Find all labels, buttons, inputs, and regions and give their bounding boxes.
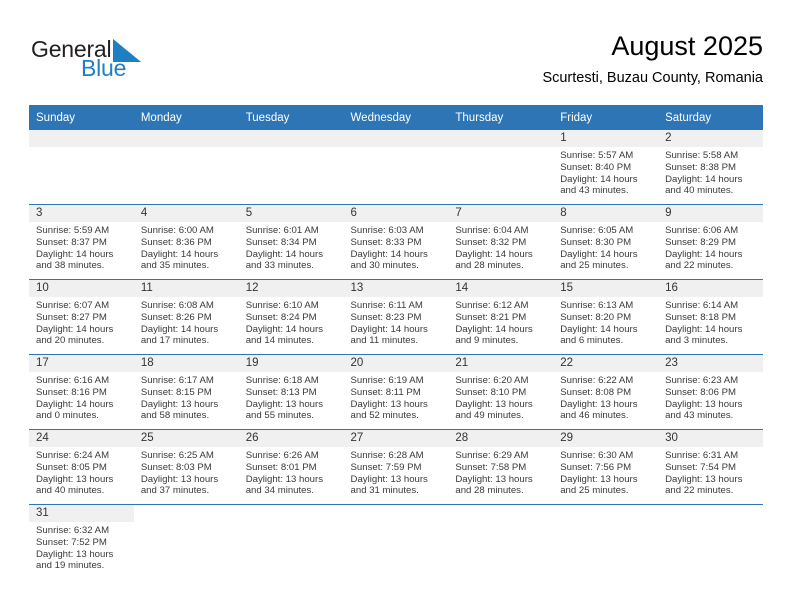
day-number: 15: [553, 280, 658, 297]
sunset-time: Sunset: 8:27 PM: [36, 312, 130, 324]
day-details: Sunrise: 6:20 AMSunset: 8:10 PMDaylight:…: [448, 372, 553, 422]
day-cell-content: 23Sunrise: 6:23 AMSunset: 8:06 PMDayligh…: [658, 355, 763, 429]
day-number: 1: [553, 130, 658, 147]
sunset-time: Sunset: 8:16 PM: [36, 387, 130, 399]
calendar-day-cell[interactable]: 2Sunrise: 5:58 AMSunset: 8:38 PMDaylight…: [658, 130, 763, 205]
daylight-duration-line1: Daylight: 13 hours: [455, 399, 549, 411]
daylight-duration-line1: Daylight: 14 hours: [665, 324, 759, 336]
calendar-day-cell[interactable]: 25Sunrise: 6:25 AMSunset: 8:03 PMDayligh…: [134, 430, 239, 505]
day-details: Sunrise: 6:30 AMSunset: 7:56 PMDaylight:…: [553, 447, 658, 497]
day-cell-content: [344, 505, 449, 579]
day-cell-content: 5Sunrise: 6:01 AMSunset: 8:34 PMDaylight…: [239, 205, 344, 279]
day-cell-content: 18Sunrise: 6:17 AMSunset: 8:15 PMDayligh…: [134, 355, 239, 429]
daylight-duration-line2: and 38 minutes.: [36, 260, 130, 272]
sunset-time: Sunset: 8:05 PM: [36, 462, 130, 474]
day-number: [239, 130, 344, 147]
daylight-duration-line1: Daylight: 14 hours: [36, 249, 130, 261]
sunrise-time: Sunrise: 6:12 AM: [455, 300, 549, 312]
sunrise-time: Sunrise: 6:31 AM: [665, 450, 759, 462]
calendar-day-cell[interactable]: 23Sunrise: 6:23 AMSunset: 8:06 PMDayligh…: [658, 355, 763, 430]
day-cell-content: 4Sunrise: 6:00 AMSunset: 8:36 PMDaylight…: [134, 205, 239, 279]
page-header: General Blue August 2025 Scurtesti, Buza…: [29, 30, 763, 96]
day-number: 11: [134, 280, 239, 297]
day-details: Sunrise: 6:25 AMSunset: 8:03 PMDaylight:…: [134, 447, 239, 497]
day-cell-content: [344, 130, 449, 204]
sunrise-time: Sunrise: 6:10 AM: [246, 300, 340, 312]
day-number: 28: [448, 430, 553, 447]
daylight-duration-line2: and 31 minutes.: [351, 485, 445, 497]
daylight-duration-line1: Daylight: 13 hours: [141, 399, 235, 411]
sunrise-time: Sunrise: 5:58 AM: [665, 150, 759, 162]
calendar-day-cell[interactable]: 28Sunrise: 6:29 AMSunset: 7:58 PMDayligh…: [448, 430, 553, 505]
daylight-duration-line2: and 33 minutes.: [246, 260, 340, 272]
day-details: Sunrise: 6:05 AMSunset: 8:30 PMDaylight:…: [553, 222, 658, 272]
day-cell-content: [658, 505, 763, 579]
daylight-duration-line2: and 14 minutes.: [246, 335, 340, 347]
day-number: 29: [553, 430, 658, 447]
calendar-empty-cell: [344, 130, 449, 205]
day-cell-content: 13Sunrise: 6:11 AMSunset: 8:23 PMDayligh…: [344, 280, 449, 354]
day-number: 14: [448, 280, 553, 297]
calendar-day-cell[interactable]: 20Sunrise: 6:19 AMSunset: 8:11 PMDayligh…: [344, 355, 449, 430]
day-cell-content: 16Sunrise: 6:14 AMSunset: 8:18 PMDayligh…: [658, 280, 763, 354]
day-details: Sunrise: 6:06 AMSunset: 8:29 PMDaylight:…: [658, 222, 763, 272]
day-cell-content: 24Sunrise: 6:24 AMSunset: 8:05 PMDayligh…: [29, 430, 134, 504]
daylight-duration-line2: and 22 minutes.: [665, 260, 759, 272]
sunset-time: Sunset: 8:40 PM: [560, 162, 654, 174]
sunset-time: Sunset: 8:08 PM: [560, 387, 654, 399]
daylight-duration-line1: Daylight: 13 hours: [36, 549, 130, 561]
calendar-empty-cell: [448, 505, 553, 580]
day-number: [553, 505, 658, 522]
page-title: August 2025: [542, 30, 763, 63]
general-blue-logo[interactable]: General Blue: [29, 36, 189, 92]
daylight-duration-line1: Daylight: 14 hours: [141, 324, 235, 336]
day-cell-content: [134, 505, 239, 579]
weekday-header-wednesday: Wednesday: [344, 105, 449, 130]
sunrise-time: Sunrise: 6:16 AM: [36, 375, 130, 387]
day-number: 30: [658, 430, 763, 447]
day-cell-content: 6Sunrise: 6:03 AMSunset: 8:33 PMDaylight…: [344, 205, 449, 279]
calendar-day-cell[interactable]: 29Sunrise: 6:30 AMSunset: 7:56 PMDayligh…: [553, 430, 658, 505]
day-number: 24: [29, 430, 134, 447]
day-details: Sunrise: 6:08 AMSunset: 8:26 PMDaylight:…: [134, 297, 239, 347]
daylight-duration-line2: and 28 minutes.: [455, 260, 549, 272]
calendar-day-cell[interactable]: 15Sunrise: 6:13 AMSunset: 8:20 PMDayligh…: [553, 280, 658, 355]
sunrise-time: Sunrise: 5:57 AM: [560, 150, 654, 162]
day-details: Sunrise: 6:13 AMSunset: 8:20 PMDaylight:…: [553, 297, 658, 347]
sunset-time: Sunset: 8:01 PM: [246, 462, 340, 474]
sunrise-time: Sunrise: 6:25 AM: [141, 450, 235, 462]
day-details: Sunrise: 6:28 AMSunset: 7:59 PMDaylight:…: [344, 447, 449, 497]
daylight-duration-line1: Daylight: 13 hours: [560, 474, 654, 486]
daylight-duration-line1: Daylight: 14 hours: [665, 174, 759, 186]
daylight-duration-line2: and 58 minutes.: [141, 410, 235, 422]
day-cell-content: 14Sunrise: 6:12 AMSunset: 8:21 PMDayligh…: [448, 280, 553, 354]
daylight-duration-line1: Daylight: 13 hours: [351, 474, 445, 486]
daylight-duration-line1: Daylight: 14 hours: [351, 324, 445, 336]
day-cell-content: 31Sunrise: 6:32 AMSunset: 7:52 PMDayligh…: [29, 505, 134, 579]
daylight-duration-line2: and 43 minutes.: [560, 185, 654, 197]
daylight-duration-line1: Daylight: 14 hours: [560, 324, 654, 336]
sunset-time: Sunset: 8:36 PM: [141, 237, 235, 249]
calendar-empty-cell: [344, 505, 449, 580]
day-details: Sunrise: 6:23 AMSunset: 8:06 PMDaylight:…: [658, 372, 763, 422]
calendar-day-cell[interactable]: 26Sunrise: 6:26 AMSunset: 8:01 PMDayligh…: [239, 430, 344, 505]
calendar-week-row: 24Sunrise: 6:24 AMSunset: 8:05 PMDayligh…: [29, 430, 763, 505]
sunset-time: Sunset: 8:21 PM: [455, 312, 549, 324]
sunrise-time: Sunrise: 6:06 AM: [665, 225, 759, 237]
calendar-day-cell[interactable]: 30Sunrise: 6:31 AMSunset: 7:54 PMDayligh…: [658, 430, 763, 505]
day-number: 17: [29, 355, 134, 372]
day-number: 21: [448, 355, 553, 372]
calendar-empty-cell: [29, 130, 134, 205]
sunset-time: Sunset: 8:38 PM: [665, 162, 759, 174]
day-number: 3: [29, 205, 134, 222]
day-cell-content: 26Sunrise: 6:26 AMSunset: 8:01 PMDayligh…: [239, 430, 344, 504]
sunset-time: Sunset: 8:37 PM: [36, 237, 130, 249]
day-cell-content: 22Sunrise: 6:22 AMSunset: 8:08 PMDayligh…: [553, 355, 658, 429]
sunset-time: Sunset: 8:23 PM: [351, 312, 445, 324]
sunrise-time: Sunrise: 6:29 AM: [455, 450, 549, 462]
day-number: [448, 505, 553, 522]
day-number: 5: [239, 205, 344, 222]
day-number: 27: [344, 430, 449, 447]
day-number: 7: [448, 205, 553, 222]
sunset-time: Sunset: 8:18 PM: [665, 312, 759, 324]
day-number: [134, 505, 239, 522]
day-details: Sunrise: 6:17 AMSunset: 8:15 PMDaylight:…: [134, 372, 239, 422]
day-number: [344, 130, 449, 147]
day-cell-content: 11Sunrise: 6:08 AMSunset: 8:26 PMDayligh…: [134, 280, 239, 354]
sunset-time: Sunset: 8:32 PM: [455, 237, 549, 249]
sunrise-time: Sunrise: 6:23 AM: [665, 375, 759, 387]
sunrise-time: Sunrise: 6:11 AM: [351, 300, 445, 312]
triangle-flag-icon: [113, 39, 141, 62]
day-details: Sunrise: 6:12 AMSunset: 8:21 PMDaylight:…: [448, 297, 553, 347]
sunrise-time: Sunrise: 6:17 AM: [141, 375, 235, 387]
daylight-duration-line1: Daylight: 13 hours: [141, 474, 235, 486]
calendar-day-cell[interactable]: 4Sunrise: 6:00 AMSunset: 8:36 PMDaylight…: [134, 205, 239, 280]
day-number: [29, 130, 134, 147]
daylight-duration-line2: and 25 minutes.: [560, 260, 654, 272]
daylight-duration-line1: Daylight: 14 hours: [36, 399, 130, 411]
sunset-time: Sunset: 7:56 PM: [560, 462, 654, 474]
day-details: Sunrise: 6:11 AMSunset: 8:23 PMDaylight:…: [344, 297, 449, 347]
sunset-time: Sunset: 8:06 PM: [665, 387, 759, 399]
sunrise-time: Sunrise: 6:24 AM: [36, 450, 130, 462]
daylight-duration-line1: Daylight: 13 hours: [560, 399, 654, 411]
calendar-day-cell[interactable]: 6Sunrise: 6:03 AMSunset: 8:33 PMDaylight…: [344, 205, 449, 280]
sunset-time: Sunset: 8:30 PM: [560, 237, 654, 249]
day-cell-content: 27Sunrise: 6:28 AMSunset: 7:59 PMDayligh…: [344, 430, 449, 504]
sunrise-time: Sunrise: 6:01 AM: [246, 225, 340, 237]
sunset-time: Sunset: 8:33 PM: [351, 237, 445, 249]
calendar-day-cell[interactable]: 31Sunrise: 6:32 AMSunset: 7:52 PMDayligh…: [29, 505, 134, 580]
day-details: Sunrise: 6:19 AMSunset: 8:11 PMDaylight:…: [344, 372, 449, 422]
daylight-duration-line2: and 25 minutes.: [560, 485, 654, 497]
daylight-duration-line2: and 9 minutes.: [455, 335, 549, 347]
calendar-day-cell[interactable]: 24Sunrise: 6:24 AMSunset: 8:05 PMDayligh…: [29, 430, 134, 505]
day-number: 20: [344, 355, 449, 372]
day-number: 13: [344, 280, 449, 297]
calendar-empty-cell: [239, 505, 344, 580]
calendar-page: General Blue August 2025 Scurtesti, Buza…: [0, 0, 792, 612]
day-cell-content: 28Sunrise: 6:29 AMSunset: 7:58 PMDayligh…: [448, 430, 553, 504]
daylight-duration-line1: Daylight: 14 hours: [455, 249, 549, 261]
calendar-day-cell[interactable]: 12Sunrise: 6:10 AMSunset: 8:24 PMDayligh…: [239, 280, 344, 355]
sunrise-time: Sunrise: 6:04 AM: [455, 225, 549, 237]
sunset-time: Sunset: 7:58 PM: [455, 462, 549, 474]
day-number: [658, 505, 763, 522]
day-number: 10: [29, 280, 134, 297]
day-number: [239, 505, 344, 522]
daylight-duration-line2: and 28 minutes.: [455, 485, 549, 497]
daylight-duration-line2: and 22 minutes.: [665, 485, 759, 497]
day-details: Sunrise: 6:29 AMSunset: 7:58 PMDaylight:…: [448, 447, 553, 497]
daylight-duration-line2: and 19 minutes.: [36, 560, 130, 572]
weekday-header-row: Sunday Monday Tuesday Wednesday Thursday…: [29, 105, 763, 130]
calendar-week-row: 3Sunrise: 5:59 AMSunset: 8:37 PMDaylight…: [29, 205, 763, 280]
daylight-duration-line1: Daylight: 14 hours: [455, 324, 549, 336]
calendar-empty-cell: [658, 505, 763, 580]
day-number: 8: [553, 205, 658, 222]
day-number: 26: [239, 430, 344, 447]
weekday-header-saturday: Saturday: [658, 105, 763, 130]
sunset-time: Sunset: 7:59 PM: [351, 462, 445, 474]
sunrise-time: Sunrise: 6:13 AM: [560, 300, 654, 312]
day-cell-content: 15Sunrise: 6:13 AMSunset: 8:20 PMDayligh…: [553, 280, 658, 354]
day-details: Sunrise: 5:57 AMSunset: 8:40 PMDaylight:…: [553, 147, 658, 197]
day-cell-content: 2Sunrise: 5:58 AMSunset: 8:38 PMDaylight…: [658, 130, 763, 204]
calendar-week-row: 10Sunrise: 6:07 AMSunset: 8:27 PMDayligh…: [29, 280, 763, 355]
day-number: 9: [658, 205, 763, 222]
day-details: Sunrise: 6:32 AMSunset: 7:52 PMDaylight:…: [29, 522, 134, 572]
day-details: Sunrise: 6:10 AMSunset: 8:24 PMDaylight:…: [239, 297, 344, 347]
day-details: Sunrise: 6:18 AMSunset: 8:13 PMDaylight:…: [239, 372, 344, 422]
sunrise-time: Sunrise: 6:22 AM: [560, 375, 654, 387]
day-cell-content: 29Sunrise: 6:30 AMSunset: 7:56 PMDayligh…: [553, 430, 658, 504]
daylight-duration-line2: and 52 minutes.: [351, 410, 445, 422]
sunset-time: Sunset: 8:11 PM: [351, 387, 445, 399]
calendar-empty-cell: [553, 505, 658, 580]
sunrise-time: Sunrise: 6:28 AM: [351, 450, 445, 462]
calendar-day-cell[interactable]: 16Sunrise: 6:14 AMSunset: 8:18 PMDayligh…: [658, 280, 763, 355]
daylight-duration-line2: and 49 minutes.: [455, 410, 549, 422]
daylight-duration-line1: Daylight: 14 hours: [351, 249, 445, 261]
sunset-time: Sunset: 8:13 PM: [246, 387, 340, 399]
calendar-day-cell[interactable]: 14Sunrise: 6:12 AMSunset: 8:21 PMDayligh…: [448, 280, 553, 355]
location-subtitle: Scurtesti, Buzau County, Romania: [542, 69, 763, 87]
day-number: 12: [239, 280, 344, 297]
daylight-duration-line1: Daylight: 14 hours: [36, 324, 130, 336]
day-details: Sunrise: 6:26 AMSunset: 8:01 PMDaylight:…: [239, 447, 344, 497]
daylight-duration-line2: and 40 minutes.: [665, 185, 759, 197]
sunrise-time: Sunrise: 6:20 AM: [455, 375, 549, 387]
day-cell-content: 21Sunrise: 6:20 AMSunset: 8:10 PMDayligh…: [448, 355, 553, 429]
day-number: [344, 505, 449, 522]
day-cell-content: [134, 130, 239, 204]
day-cell-content: 30Sunrise: 6:31 AMSunset: 7:54 PMDayligh…: [658, 430, 763, 504]
daylight-duration-line2: and 43 minutes.: [665, 410, 759, 422]
day-details: Sunrise: 6:31 AMSunset: 7:54 PMDaylight:…: [658, 447, 763, 497]
sunrise-time: Sunrise: 6:30 AM: [560, 450, 654, 462]
day-number: 22: [553, 355, 658, 372]
day-details: Sunrise: 6:07 AMSunset: 8:27 PMDaylight:…: [29, 297, 134, 347]
day-number: 23: [658, 355, 763, 372]
daylight-duration-line2: and 40 minutes.: [36, 485, 130, 497]
daylight-duration-line1: Daylight: 14 hours: [560, 249, 654, 261]
day-details: Sunrise: 5:59 AMSunset: 8:37 PMDaylight:…: [29, 222, 134, 272]
daylight-duration-line2: and 6 minutes.: [560, 335, 654, 347]
daylight-duration-line2: and 37 minutes.: [141, 485, 235, 497]
day-details: Sunrise: 6:00 AMSunset: 8:36 PMDaylight:…: [134, 222, 239, 272]
daylight-duration-line1: Daylight: 13 hours: [246, 399, 340, 411]
day-details: Sunrise: 6:04 AMSunset: 8:32 PMDaylight:…: [448, 222, 553, 272]
day-number: 25: [134, 430, 239, 447]
day-cell-content: 20Sunrise: 6:19 AMSunset: 8:11 PMDayligh…: [344, 355, 449, 429]
day-cell-content: [553, 505, 658, 579]
day-cell-content: [239, 505, 344, 579]
daylight-duration-line2: and 34 minutes.: [246, 485, 340, 497]
daylight-duration-line1: Daylight: 14 hours: [560, 174, 654, 186]
daylight-duration-line2: and 20 minutes.: [36, 335, 130, 347]
calendar-week-row: 31Sunrise: 6:32 AMSunset: 7:52 PMDayligh…: [29, 505, 763, 580]
daylight-duration-line2: and 11 minutes.: [351, 335, 445, 347]
calendar-day-cell[interactable]: 9Sunrise: 6:06 AMSunset: 8:29 PMDaylight…: [658, 205, 763, 280]
sunrise-time: Sunrise: 6:05 AM: [560, 225, 654, 237]
day-number: 31: [29, 505, 134, 522]
day-number: 19: [239, 355, 344, 372]
sunrise-time: Sunrise: 6:18 AM: [246, 375, 340, 387]
sunrise-sunset-calendar-table: Sunday Monday Tuesday Wednesday Thursday…: [29, 105, 763, 579]
daylight-duration-line2: and 46 minutes.: [560, 410, 654, 422]
calendar-day-cell[interactable]: 22Sunrise: 6:22 AMSunset: 8:08 PMDayligh…: [553, 355, 658, 430]
sunrise-time: Sunrise: 6:32 AM: [36, 525, 130, 537]
weekday-header-thursday: Thursday: [448, 105, 553, 130]
day-number: [134, 130, 239, 147]
calendar-day-cell[interactable]: 11Sunrise: 6:08 AMSunset: 8:26 PMDayligh…: [134, 280, 239, 355]
calendar-day-cell[interactable]: 8Sunrise: 6:05 AMSunset: 8:30 PMDaylight…: [553, 205, 658, 280]
daylight-duration-line1: Daylight: 13 hours: [36, 474, 130, 486]
daylight-duration-line1: Daylight: 14 hours: [246, 249, 340, 261]
calendar-empty-cell: [134, 505, 239, 580]
day-cell-content: 7Sunrise: 6:04 AMSunset: 8:32 PMDaylight…: [448, 205, 553, 279]
sunrise-time: Sunrise: 6:14 AM: [665, 300, 759, 312]
day-cell-content: [448, 130, 553, 204]
calendar-day-cell[interactable]: 7Sunrise: 6:04 AMSunset: 8:32 PMDaylight…: [448, 205, 553, 280]
day-cell-content: 8Sunrise: 6:05 AMSunset: 8:30 PMDaylight…: [553, 205, 658, 279]
sunrise-time: Sunrise: 6:07 AM: [36, 300, 130, 312]
daylight-duration-line2: and 30 minutes.: [351, 260, 445, 272]
day-cell-content: 25Sunrise: 6:25 AMSunset: 8:03 PMDayligh…: [134, 430, 239, 504]
daylight-duration-line2: and 35 minutes.: [141, 260, 235, 272]
daylight-duration-line2: and 0 minutes.: [36, 410, 130, 422]
day-cell-content: [239, 130, 344, 204]
day-cell-content: 12Sunrise: 6:10 AMSunset: 8:24 PMDayligh…: [239, 280, 344, 354]
sunrise-time: Sunrise: 6:00 AM: [141, 225, 235, 237]
sunset-time: Sunset: 7:54 PM: [665, 462, 759, 474]
day-cell-content: 9Sunrise: 6:06 AMSunset: 8:29 PMDaylight…: [658, 205, 763, 279]
calendar-day-cell[interactable]: 27Sunrise: 6:28 AMSunset: 7:59 PMDayligh…: [344, 430, 449, 505]
calendar-day-cell[interactable]: 13Sunrise: 6:11 AMSunset: 8:23 PMDayligh…: [344, 280, 449, 355]
day-number: 18: [134, 355, 239, 372]
daylight-duration-line1: Daylight: 13 hours: [665, 399, 759, 411]
calendar-week-row: 17Sunrise: 6:16 AMSunset: 8:16 PMDayligh…: [29, 355, 763, 430]
sunset-time: Sunset: 8:10 PM: [455, 387, 549, 399]
day-details: Sunrise: 6:01 AMSunset: 8:34 PMDaylight:…: [239, 222, 344, 272]
day-details: Sunrise: 6:14 AMSunset: 8:18 PMDaylight:…: [658, 297, 763, 347]
calendar-empty-cell: [448, 130, 553, 205]
calendar-day-cell[interactable]: 21Sunrise: 6:20 AMSunset: 8:10 PMDayligh…: [448, 355, 553, 430]
calendar-empty-cell: [134, 130, 239, 205]
weekday-header-monday: Monday: [134, 105, 239, 130]
day-cell-content: 17Sunrise: 6:16 AMSunset: 8:16 PMDayligh…: [29, 355, 134, 429]
calendar-week-row: 1Sunrise: 5:57 AMSunset: 8:40 PMDaylight…: [29, 130, 763, 205]
sunset-time: Sunset: 8:34 PM: [246, 237, 340, 249]
day-number: 2: [658, 130, 763, 147]
day-details: Sunrise: 6:22 AMSunset: 8:08 PMDaylight:…: [553, 372, 658, 422]
day-cell-content: 19Sunrise: 6:18 AMSunset: 8:13 PMDayligh…: [239, 355, 344, 429]
day-details: Sunrise: 6:24 AMSunset: 8:05 PMDaylight:…: [29, 447, 134, 497]
calendar-day-cell[interactable]: 19Sunrise: 6:18 AMSunset: 8:13 PMDayligh…: [239, 355, 344, 430]
sunset-time: Sunset: 8:15 PM: [141, 387, 235, 399]
daylight-duration-line1: Daylight: 14 hours: [665, 249, 759, 261]
weekday-header-tuesday: Tuesday: [239, 105, 344, 130]
calendar-day-cell[interactable]: 17Sunrise: 6:16 AMSunset: 8:16 PMDayligh…: [29, 355, 134, 430]
sunset-time: Sunset: 8:03 PM: [141, 462, 235, 474]
calendar-body: 1Sunrise: 5:57 AMSunset: 8:40 PMDaylight…: [29, 130, 763, 579]
sunset-time: Sunset: 8:20 PM: [560, 312, 654, 324]
sunrise-time: Sunrise: 6:03 AM: [351, 225, 445, 237]
weekday-header-friday: Friday: [553, 105, 658, 130]
day-cell-content: 1Sunrise: 5:57 AMSunset: 8:40 PMDaylight…: [553, 130, 658, 204]
daylight-duration-line1: Daylight: 14 hours: [246, 324, 340, 336]
daylight-duration-line1: Daylight: 13 hours: [455, 474, 549, 486]
day-number: 6: [344, 205, 449, 222]
day-number: 16: [658, 280, 763, 297]
sunrise-time: Sunrise: 6:08 AM: [141, 300, 235, 312]
daylight-duration-line1: Daylight: 14 hours: [141, 249, 235, 261]
calendar-empty-cell: [239, 130, 344, 205]
day-number: [448, 130, 553, 147]
day-cell-content: [448, 505, 553, 579]
day-details: Sunrise: 5:58 AMSunset: 8:38 PMDaylight:…: [658, 147, 763, 197]
sunrise-time: Sunrise: 6:26 AM: [246, 450, 340, 462]
daylight-duration-line2: and 3 minutes.: [665, 335, 759, 347]
sunset-time: Sunset: 8:24 PM: [246, 312, 340, 324]
weekday-header-sunday: Sunday: [29, 105, 134, 130]
title-block: August 2025 Scurtesti, Buzau County, Rom…: [542, 30, 763, 87]
day-details: Sunrise: 6:03 AMSunset: 8:33 PMDaylight:…: [344, 222, 449, 272]
daylight-duration-line2: and 17 minutes.: [141, 335, 235, 347]
calendar-day-cell[interactable]: 10Sunrise: 6:07 AMSunset: 8:27 PMDayligh…: [29, 280, 134, 355]
daylight-duration-line1: Daylight: 13 hours: [665, 474, 759, 486]
calendar-day-cell[interactable]: 18Sunrise: 6:17 AMSunset: 8:15 PMDayligh…: [134, 355, 239, 430]
day-cell-content: 3Sunrise: 5:59 AMSunset: 8:37 PMDaylight…: [29, 205, 134, 279]
calendar-day-cell[interactable]: 1Sunrise: 5:57 AMSunset: 8:40 PMDaylight…: [553, 130, 658, 205]
day-number: 4: [134, 205, 239, 222]
sunset-time: Sunset: 8:29 PM: [665, 237, 759, 249]
day-cell-content: 10Sunrise: 6:07 AMSunset: 8:27 PMDayligh…: [29, 280, 134, 354]
sunrise-time: Sunrise: 5:59 AM: [36, 225, 130, 237]
daylight-duration-line2: and 55 minutes.: [246, 410, 340, 422]
sunrise-time: Sunrise: 6:19 AM: [351, 375, 445, 387]
calendar-day-cell[interactable]: 3Sunrise: 5:59 AMSunset: 8:37 PMDaylight…: [29, 205, 134, 280]
day-cell-content: [29, 130, 134, 204]
calendar-day-cell[interactable]: 5Sunrise: 6:01 AMSunset: 8:34 PMDaylight…: [239, 205, 344, 280]
sunset-time: Sunset: 8:26 PM: [141, 312, 235, 324]
